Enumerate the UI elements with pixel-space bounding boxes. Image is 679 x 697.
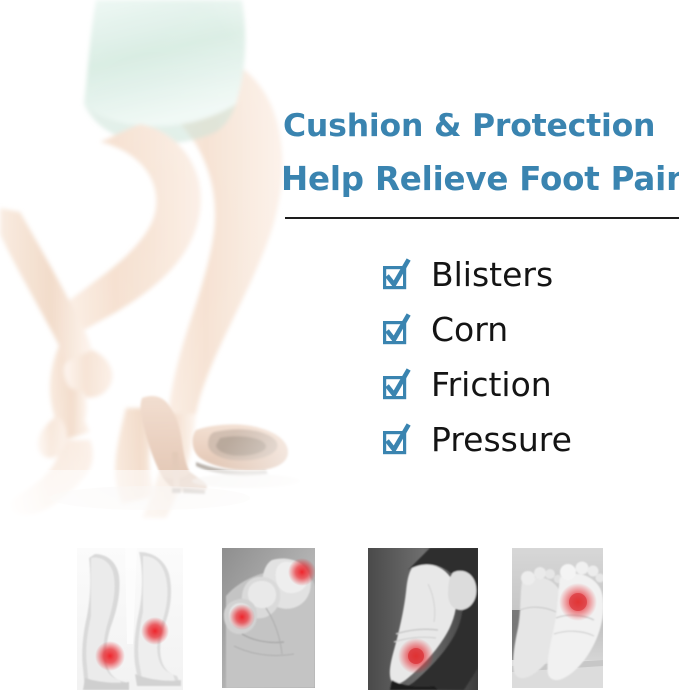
heel-pain-thumbnail [77, 548, 183, 690]
headline: Cushion & Protection Help Relieve Foot P… [283, 100, 679, 206]
woman-holding-foot-photo [0, 0, 300, 530]
forefoot-pain-thumbnail [512, 548, 603, 688]
pain-area-thumbnail-strip [0, 548, 679, 697]
benefit-item-friction: Friction [383, 357, 679, 412]
benefit-label: Corn [431, 313, 508, 347]
headline-divider [285, 217, 679, 219]
checkbox-checked-icon [383, 370, 409, 400]
toe-pain-thumbnail [222, 548, 315, 688]
checkbox-checked-icon [383, 260, 409, 290]
headline-line-1: Cushion & Protection [283, 100, 679, 153]
headline-line-2: Help Relieve Foot Pain [281, 153, 679, 206]
benefit-item-pressure: Pressure [383, 412, 679, 467]
benefit-item-blisters: Blisters [383, 247, 679, 302]
benefit-label: Pressure [431, 423, 572, 457]
checkbox-checked-icon [383, 425, 409, 455]
benefit-item-corn: Corn [383, 302, 679, 357]
benefit-label: Blisters [431, 258, 553, 292]
checkbox-checked-icon [383, 315, 409, 345]
bunion-pain-thumbnail [368, 548, 478, 690]
benefit-label: Friction [431, 368, 552, 402]
product-feature-poster: Cushion & Protection Help Relieve Foot P… [0, 0, 679, 697]
benefits-list: Blisters Corn Friction [383, 247, 679, 467]
